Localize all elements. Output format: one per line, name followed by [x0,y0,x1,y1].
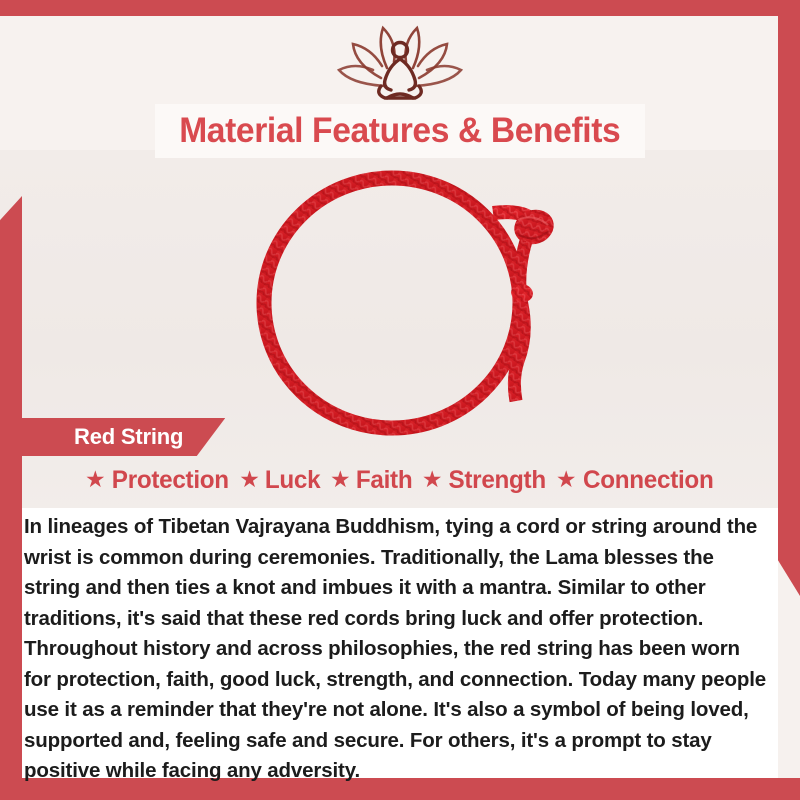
star-icon: ★ [85,468,106,491]
benefit-item-connection: ★ Connection [556,466,715,495]
page-title: Material Features & Benefits [179,111,620,151]
infographic-page: BUDDHA STONES Material Features & Benefi… [0,0,800,800]
benefit-item-strength: ★ Strength [422,466,547,495]
benefit-label: Luck [265,466,320,495]
frame-right-bar [778,0,800,596]
product-name-label: Red String [74,424,183,450]
frame-left-bar [0,196,22,800]
benefit-item-luck: ★ Luck [239,466,321,495]
frame-top-bar [0,0,800,16]
description-text: In lineages of Tibetan Vajrayana Buddhis… [24,512,768,787]
red-braided-cord-bracelet-image [250,165,580,440]
benefit-item-faith: ★ Faith [330,466,413,495]
benefit-label: Faith [356,466,412,495]
product-name-ribbon: Red String [22,418,225,456]
benefit-item-protection: ★ Protection [85,466,230,495]
star-icon: ★ [330,468,351,491]
benefit-label: Connection [583,466,713,495]
star-icon: ★ [422,468,443,491]
benefit-label: Strength [448,466,545,495]
star-icon: ★ [239,468,260,491]
benefits-row: ★ Protection ★ Luck ★ Faith ★ Strength ★… [0,466,800,495]
page-title-banner: Material Features & Benefits [155,104,645,158]
star-icon: ★ [556,468,577,491]
description-panel: In lineages of Tibetan Vajrayana Buddhis… [22,508,778,778]
lotus-meditation-figure-icon [325,20,475,108]
benefit-label: Protection [111,466,228,495]
